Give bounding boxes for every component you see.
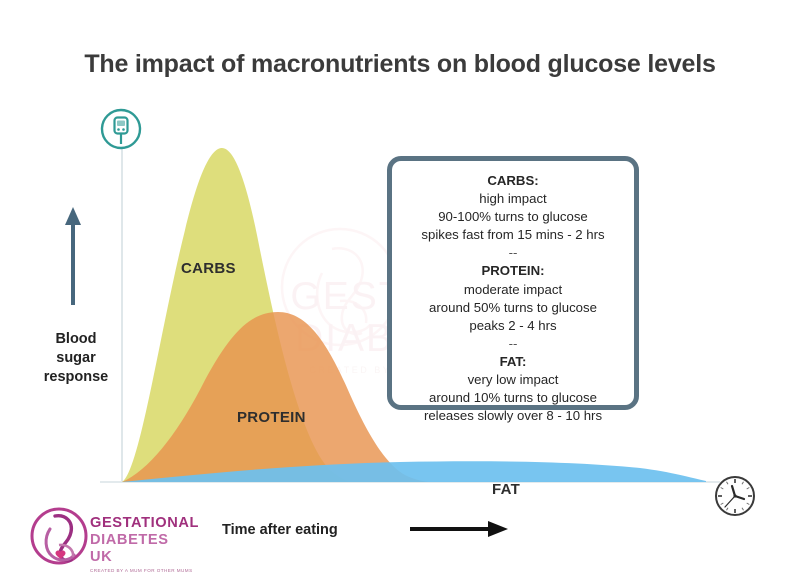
logo-text: GESTATIONAL DIABETES UK CREATED BY A MUM…: [90, 515, 194, 573]
logo-tagline: CREATED BY A MUM FOR OTHER MUMS: [90, 568, 194, 573]
info-line: high impact: [392, 190, 634, 208]
info-line: FAT:: [392, 353, 634, 371]
infographic-page: The impact of macronutrients on blood gl…: [0, 0, 800, 587]
curve-label-carbs: CARBS: [181, 260, 236, 277]
info-line: moderate impact: [392, 281, 634, 299]
logo-word-gestational: GESTATIONAL: [90, 515, 194, 532]
glucose-meter-icon: [100, 108, 142, 150]
info-line: spikes fast from 15 mins - 2 hrs: [392, 226, 634, 244]
info-separator: --: [392, 244, 634, 262]
info-separator: --: [392, 335, 634, 353]
info-line: 90-100% turns to glucose: [392, 208, 634, 226]
logo-word-diabetes-uk: DIABETES UK: [90, 532, 194, 566]
info-line: peaks 2 - 4 hrs: [392, 317, 634, 335]
y-axis-label-line-2: sugar: [28, 349, 124, 368]
macronutrient-info-box: CARBS: high impact 90-100% turns to gluc…: [387, 156, 639, 410]
info-line: very low impact: [392, 371, 634, 389]
x-axis-label: Time after eating: [222, 522, 338, 538]
info-line: releases slowly over 8 - 10 hrs: [392, 407, 634, 425]
up-arrow-icon: [62, 205, 84, 307]
brand-logo: GESTATIONAL DIABETES UK CREATED BY A MUM…: [28, 503, 194, 573]
clock-icon: [712, 473, 758, 519]
info-line: around 50% turns to glucose: [392, 299, 634, 317]
curve-label-protein: PROTEIN: [237, 409, 306, 426]
y-axis-label: Blood sugar response: [28, 330, 124, 387]
y-axis-label-line-3: response: [28, 368, 124, 387]
info-line: PROTEIN:: [392, 262, 634, 280]
pregnant-woman-icon: [28, 505, 90, 567]
curve-label-fat: FAT: [492, 481, 520, 498]
right-arrow-icon: [410, 519, 510, 539]
info-line: around 10% turns to glucose: [392, 389, 634, 407]
info-line: CARBS:: [392, 172, 634, 190]
y-axis-label-line-1: Blood: [28, 330, 124, 349]
